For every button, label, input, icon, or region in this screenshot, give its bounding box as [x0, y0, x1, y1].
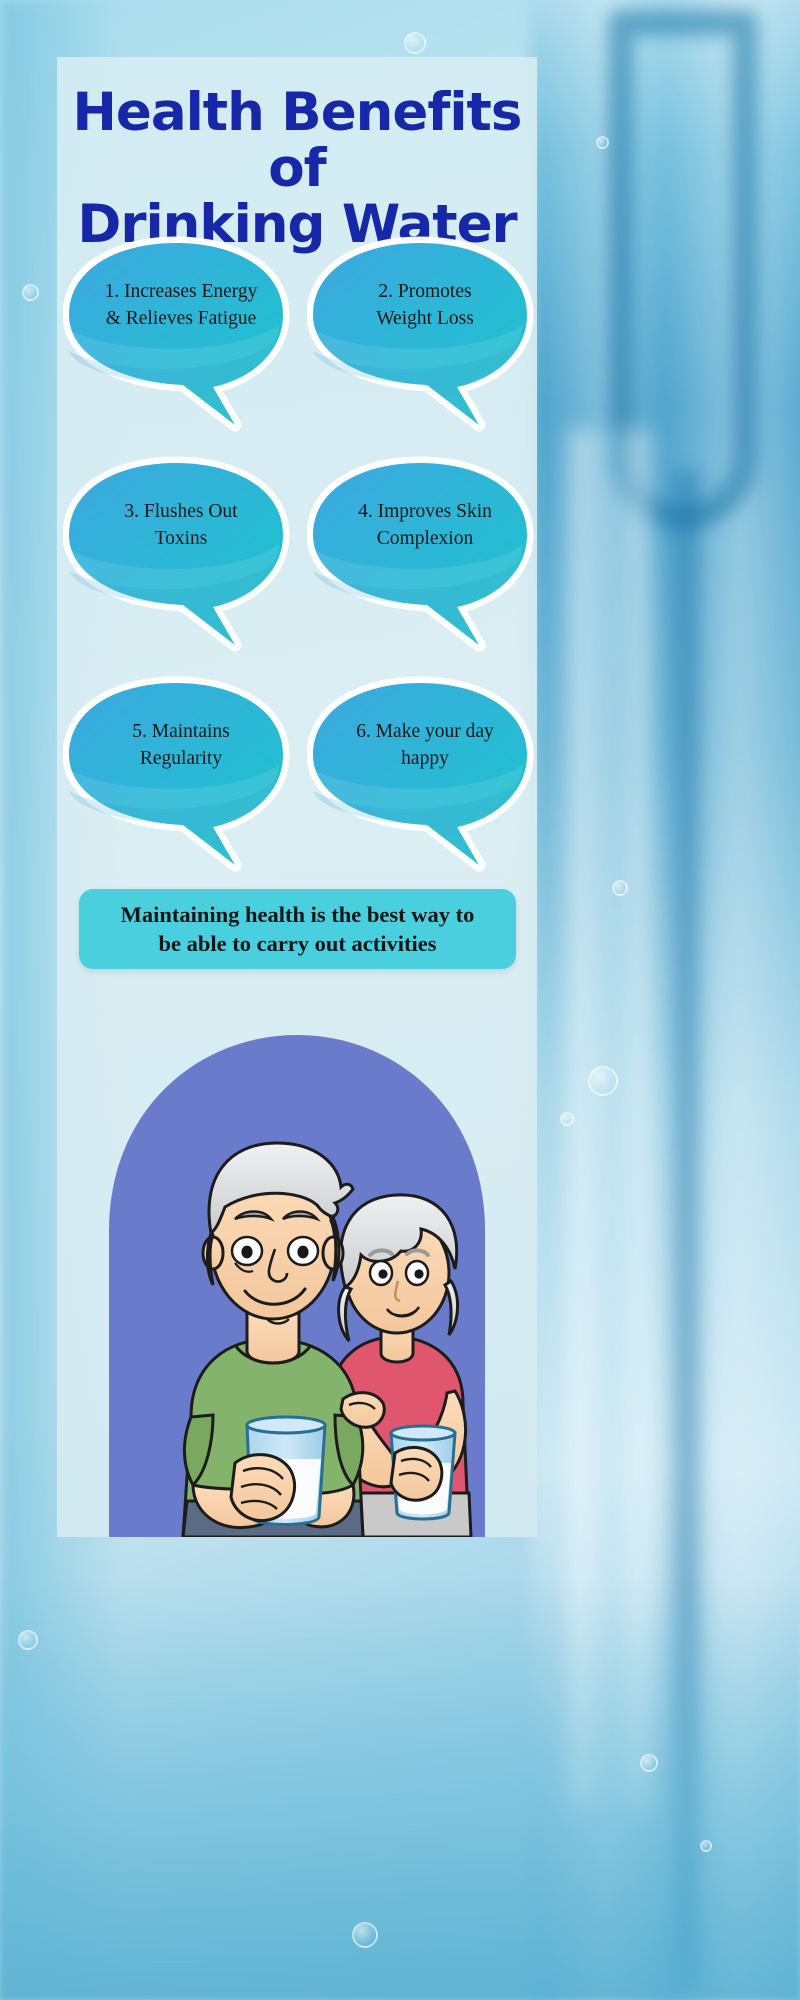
- benefit-label-line-1: 4. Improves Skin: [358, 501, 492, 522]
- content-card: Health Benefits of Drinking Water: [57, 57, 537, 1537]
- benefit-bubble-3[interactable]: 3. Flushes Out Toxins: [63, 453, 305, 653]
- benefit-label-line-2: Regularity: [140, 748, 222, 769]
- benefit-label-line-1: 1. Increases Energy: [105, 281, 258, 302]
- banner-text: Maintaining health is the best way to be…: [111, 900, 485, 959]
- benefit-label-line-1: 2. Promotes: [378, 281, 471, 302]
- bubble-decor-icon: [404, 32, 426, 54]
- bubble-decor-icon: [18, 1630, 38, 1650]
- banner-text-line-1: Maintaining health is the best way to: [121, 902, 475, 927]
- benefit-bubble-2[interactable]: 2. Promotes Weight Loss: [307, 233, 549, 433]
- bubble-decor-icon: [700, 1840, 712, 1852]
- benefit-label: 4. Improves Skin Complexion: [327, 499, 523, 553]
- benefit-label: 6. Make your day happy: [327, 719, 523, 773]
- bubble-decor-icon: [596, 136, 609, 149]
- benefit-label: 3. Flushes Out Toxins: [83, 499, 279, 553]
- benefit-bubble-6[interactable]: 6. Make your day happy: [307, 673, 549, 873]
- health-message-banner: Maintaining health is the best way to be…: [79, 889, 516, 969]
- bubble-decor-icon: [588, 1066, 618, 1096]
- benefit-label-line-1: 6. Make your day: [356, 721, 494, 742]
- benefit-label-line-1: 3. Flushes Out: [124, 501, 237, 522]
- benefits-row: 5. Maintains Regularity: [57, 673, 537, 893]
- benefit-label-line-2: happy: [401, 748, 449, 769]
- benefits-list: 1. Increases Energy & Relieves Fatigue: [57, 233, 537, 893]
- benefit-label-line-2: Weight Loss: [376, 308, 474, 329]
- benefit-label-line-2: & Relieves Fatigue: [106, 308, 257, 329]
- page-title: Health Benefits of Drinking Water: [57, 85, 537, 254]
- banner-text-line-2: be able to carry out activities: [158, 931, 436, 956]
- bubble-decor-icon: [352, 1922, 378, 1948]
- infographic-poster: Health Benefits of Drinking Water: [0, 0, 800, 2000]
- benefit-bubble-4[interactable]: 4. Improves Skin Complexion: [307, 453, 549, 653]
- elderly-couple-illustration: [95, 1001, 499, 1537]
- benefit-label-line-2: Complexion: [377, 528, 473, 549]
- benefit-bubble-1[interactable]: 1. Increases Energy & Relieves Fatigue: [63, 233, 305, 433]
- benefit-label-line-2: Toxins: [155, 528, 208, 549]
- benefits-row: 3. Flushes Out Toxins: [57, 453, 537, 673]
- page-title-line-1: Health Benefits of: [73, 82, 522, 199]
- bubble-decor-icon: [640, 1754, 658, 1772]
- benefit-label-line-1: 5. Maintains: [132, 721, 230, 742]
- benefit-label: 1. Increases Energy & Relieves Fatigue: [83, 279, 279, 333]
- benefits-row: 1. Increases Energy & Relieves Fatigue: [57, 233, 537, 453]
- benefit-bubble-5[interactable]: 5. Maintains Regularity: [63, 673, 305, 873]
- background-bottom-wash: [0, 1580, 800, 2000]
- benefit-label: 5. Maintains Regularity: [83, 719, 279, 773]
- bubble-decor-icon: [560, 1112, 574, 1126]
- bubble-decor-icon: [22, 284, 39, 301]
- benefit-label: 2. Promotes Weight Loss: [327, 279, 523, 333]
- bubble-decor-icon: [612, 880, 628, 896]
